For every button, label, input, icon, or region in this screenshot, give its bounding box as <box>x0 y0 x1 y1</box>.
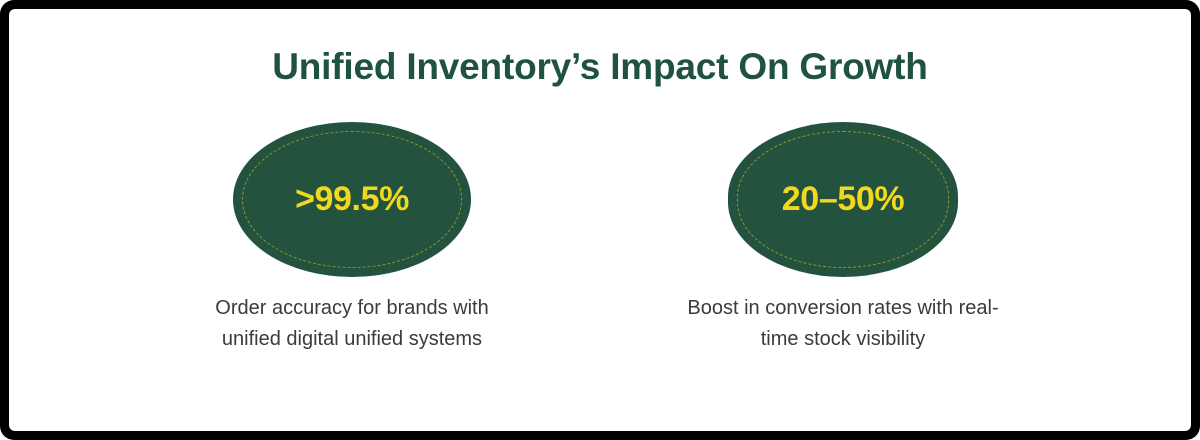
stat-block-conversion-boost: 20–50% Boost in conversion rates with re… <box>678 122 1008 355</box>
infographic-screenshot: Unified Inventory’s Impact On Growth >99… <box>0 0 1200 440</box>
stat-value-conversion-boost: 20–50% <box>782 180 904 219</box>
stat-caption-order-accuracy: Order accuracy for brands with unified d… <box>192 293 512 355</box>
stat-pill-conversion-boost: 20–50% <box>728 122 958 277</box>
stat-value-order-accuracy: >99.5% <box>295 180 409 219</box>
stat-block-order-accuracy: >99.5% Order accuracy for brands with un… <box>192 122 512 355</box>
stats-row: >99.5% Order accuracy for brands with un… <box>9 122 1191 355</box>
stat-caption-conversion-boost: Boost in conversion rates with real-time… <box>678 293 1008 355</box>
stat-pill-order-accuracy: >99.5% <box>233 122 471 277</box>
page-title: Unified Inventory’s Impact On Growth <box>9 46 1191 88</box>
content-canvas: Unified Inventory’s Impact On Growth >99… <box>9 9 1191 431</box>
